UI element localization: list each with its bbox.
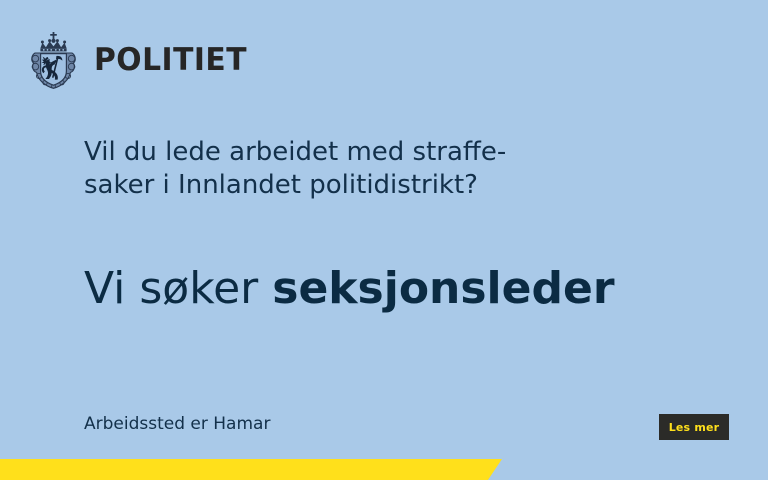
headline: Vi søker seksjonsleder: [84, 264, 615, 314]
politiet-logo-lockup: POLITIET: [27, 31, 253, 89]
les-mer-button-label: Les mer: [669, 422, 720, 433]
yellow-accent-stripe: [0, 459, 502, 480]
norwegian-coat-of-arms-icon: [27, 31, 81, 89]
intro-question: Vil du lede arbeidet med straffe- saker …: [84, 136, 644, 202]
politiet-wordmark: POLITIET: [94, 45, 247, 76]
workplace-location: Arbeidssted er Hamar: [84, 413, 270, 435]
headline-lead: Vi søker: [84, 263, 272, 314]
recruitment-banner: POLITIET Vil du lede arbeidet med straff…: [0, 0, 768, 480]
headline-emphasis: seksjonsleder: [272, 263, 614, 314]
les-mer-button[interactable]: Les mer: [659, 414, 729, 440]
